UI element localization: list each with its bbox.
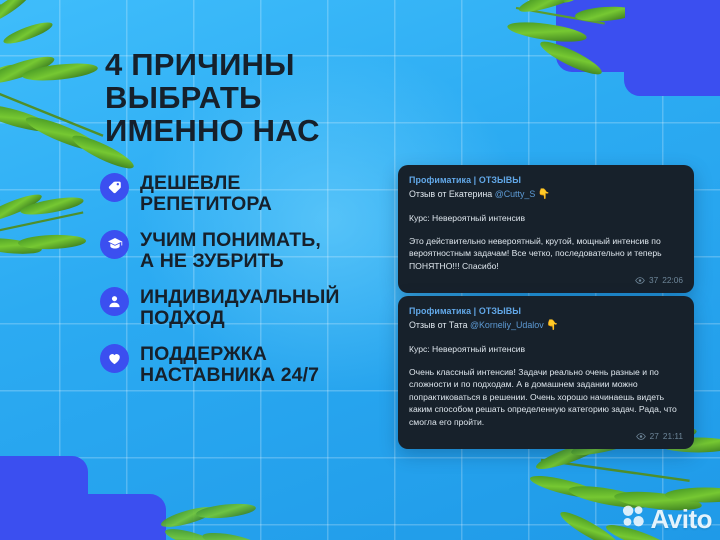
list-item-label: ПОДДЕРЖКА НАСТАВНИКА 24/7 <box>140 343 319 387</box>
review-author: Отзыв от Екатерина @Cutty_S 👇 <box>409 188 683 203</box>
review-body: Очень классный интенсив! Задачи реально … <box>409 366 683 428</box>
eye-icon <box>636 433 646 440</box>
message-meta: 27 21:11 <box>409 430 683 442</box>
decor-purple-bottom-left-wide <box>0 494 166 540</box>
course-name: Курс: Невероятный интенсив <box>409 212 683 224</box>
review-author: Отзыв от Тата @Korneliy_Udalov 👇 <box>409 319 683 334</box>
decor-purple-top-right-tall <box>624 0 720 96</box>
heart-icon <box>100 344 129 373</box>
list-item: ПОДДЕРЖКА НАСТАВНИКА 24/7 <box>100 343 400 387</box>
review-card: Профиматика | ОТЗЫВЫ Отзыв от Тата @Korn… <box>398 296 694 449</box>
benefits-list: ДЕШЕВЛЕ РЕПЕТИТОРА УЧИМ ПОНИМАТЬ, А НЕ З… <box>100 172 400 400</box>
view-count: 37 <box>649 274 658 286</box>
list-item: УЧИМ ПОНИМАТЬ, А НЕ ЗУБРИТЬ <box>100 229 400 273</box>
list-item-label: ДЕШЕВЛЕ РЕПЕТИТОРА <box>140 172 272 216</box>
view-count: 27 <box>650 430 659 442</box>
review-card: Профиматика | ОТЗЫВЫ Отзыв от Екатерина … <box>398 165 694 293</box>
review-author-handle[interactable]: @Cutty_S <box>495 189 536 199</box>
review-body: Это действительно невероятный, крутой, м… <box>409 235 683 272</box>
channel-name: Профиматика | ОТЗЫВЫ <box>409 305 683 318</box>
avito-wordmark: Avito <box>650 506 712 532</box>
review-author-handle[interactable]: @Korneliy_Udalov <box>470 320 544 330</box>
hand-pointing-down-icon: 👇 <box>546 320 558 331</box>
avito-watermark: Avito <box>621 503 712 534</box>
list-item: ДЕШЕВЛЕ РЕПЕТИТОРА <box>100 172 400 216</box>
price-tag-icon <box>100 173 129 202</box>
review-author-label: Отзыв от Тата <box>409 320 470 330</box>
message-time: 22:06 <box>662 274 683 286</box>
review-author-label: Отзыв от Екатерина <box>409 189 495 199</box>
avito-logo-icon <box>621 503 647 534</box>
list-item: ИНДИВИДУАЛЬНЫЙ ПОДХОД <box>100 286 400 330</box>
message-meta: 37 22:06 <box>409 274 683 286</box>
graduation-cap-icon <box>100 230 129 259</box>
message-time: 21:11 <box>663 430 683 442</box>
page-title: 4 ПРИЧИНЫ ВЫБРАТЬ ИМЕННО НАС <box>105 48 320 147</box>
person-icon <box>100 287 129 316</box>
eye-icon <box>635 277 645 284</box>
channel-name: Профиматика | ОТЗЫВЫ <box>409 174 683 187</box>
hand-pointing-down-icon: 👇 <box>538 189 550 200</box>
course-name: Курс: Невероятный интенсив <box>409 343 683 355</box>
list-item-label: УЧИМ ПОНИМАТЬ, А НЕ ЗУБРИТЬ <box>140 229 321 273</box>
list-item-label: ИНДИВИДУАЛЬНЫЙ ПОДХОД <box>140 286 340 330</box>
